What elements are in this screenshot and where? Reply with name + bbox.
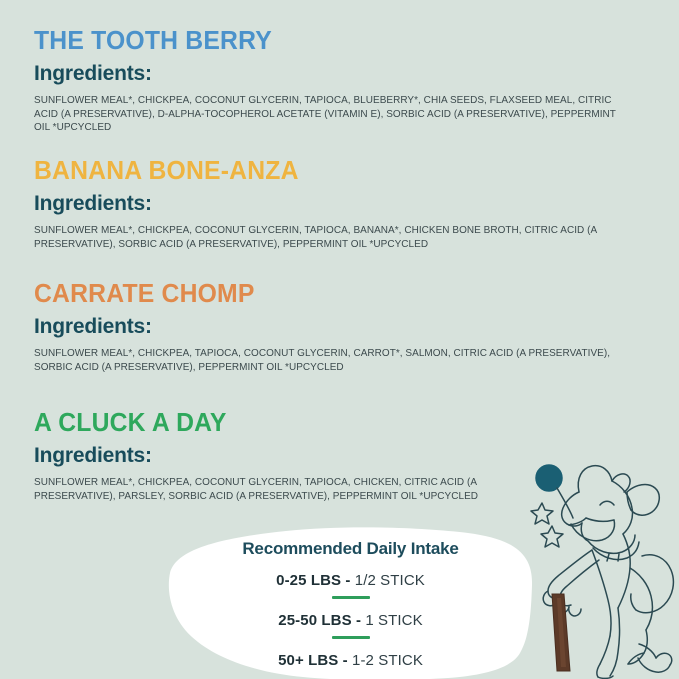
intake-weight: 50+ LBS - [278,652,352,669]
product-title: THE TOOTH BERRY [34,28,628,55]
ingredients-label: Ingredients: [34,315,646,338]
product-title: A CLUCK A DAY [34,410,509,437]
intake-row: 25-50 LBS - 1 STICK [168,612,533,629]
ingredients-text: SUNFLOWER MEAL*, CHICKPEA, COCONUT GLYCE… [34,476,485,503]
intake-amount: 1-2 STICK [352,652,423,669]
ingredients-text: SUNFLOWER MEAL*, CHICKPEA, COCONUT GLYCE… [34,94,622,135]
intake-row: 50+ LBS - 1-2 STICK [168,652,533,669]
ingredients-label: Ingredients: [34,192,646,215]
intake-title: Recommended Daily Intake [168,539,533,559]
ingredients-text: SUNFLOWER MEAL*, CHICKPEA, COCONUT GLYCE… [34,224,622,251]
product-block-banana-bone-anza: BANANA BONE-ANZA Ingredients: SUNFLOWER … [34,158,646,251]
product-block-a-cluck-a-day: A CLUCK A DAY Ingredients: SUNFLOWER MEA… [34,410,524,503]
ingredients-label: Ingredients: [34,444,524,467]
product-block-tooth-berry: THE TOOTH BERRY Ingredients: SUNFLOWER M… [34,28,646,135]
intake-amount: 1/2 STICK [355,572,425,589]
product-title: BANANA BONE-ANZA [34,158,628,185]
dog-line-art-icon [524,448,679,679]
intake-weight: 25-50 LBS - [278,612,365,629]
ingredients-text: SUNFLOWER MEAL*, CHICKPEA, TAPIOCA, COCO… [34,347,622,374]
dog-illustration [524,448,679,679]
intake-divider [332,636,370,639]
product-title: CARRATE CHOMP [34,281,628,308]
ingredients-label: Ingredients: [34,62,646,85]
recommended-daily-intake-panel: Recommended Daily Intake 0-25 LBS - 1/2 … [168,527,533,679]
product-block-carrate-chomp: CARRATE CHOMP Ingredients: SUNFLOWER MEA… [34,281,646,374]
intake-row: 0-25 LBS - 1/2 STICK [168,572,533,589]
ingredients-infographic: THE TOOTH BERRY Ingredients: SUNFLOWER M… [0,0,679,679]
intake-divider [332,596,370,599]
intake-amount: 1 STICK [365,612,422,629]
intake-weight: 0-25 LBS - [276,572,355,589]
